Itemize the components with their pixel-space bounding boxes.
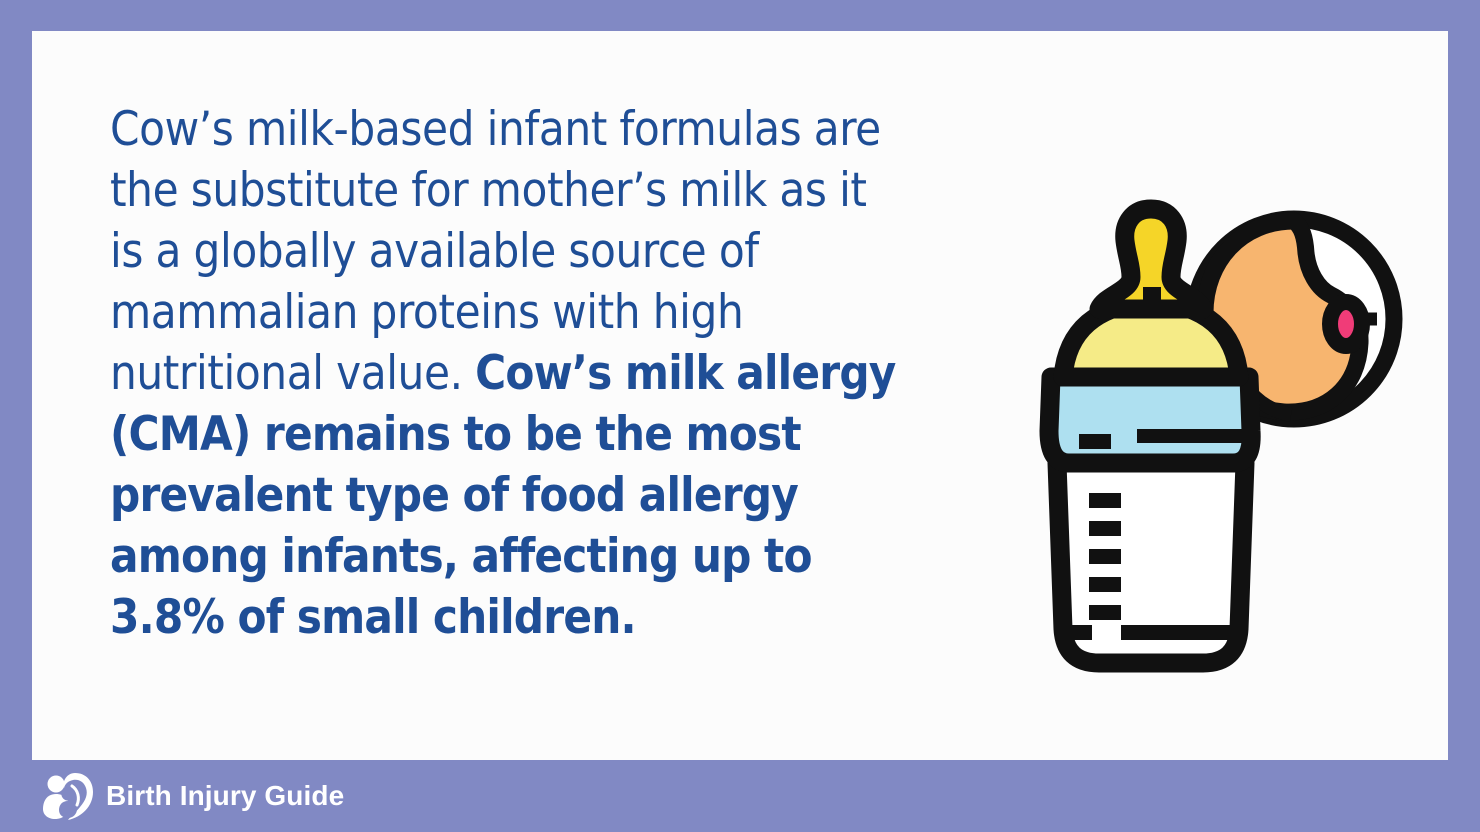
measurement-mark-5 xyxy=(1089,605,1121,620)
birth-injury-guide-logo-icon[interactable] xyxy=(42,770,94,822)
bottle-level-line-right xyxy=(1121,625,1239,640)
measurement-mark-2 xyxy=(1089,521,1121,536)
measurement-mark-3 xyxy=(1089,549,1121,564)
measurement-mark-4 xyxy=(1089,577,1121,592)
measurement-mark-1 xyxy=(1089,493,1121,508)
paragraph: Cow’s milk-based infant formulas are the… xyxy=(110,99,900,648)
breast-nipple xyxy=(1330,302,1362,346)
bottle-neck-band xyxy=(1049,377,1251,463)
content-card: Cow’s milk-based infant formulas are the… xyxy=(32,31,1448,760)
bottle-nipple-notch xyxy=(1143,287,1161,303)
brand-name[interactable]: Birth Injury Guide xyxy=(106,780,344,812)
bottle-neck-mark-short xyxy=(1079,434,1111,449)
baby-bottle-and-breast-illustration xyxy=(1017,191,1437,701)
infographic-canvas: Cow’s milk-based infant formulas are the… xyxy=(0,0,1480,832)
copy-block: Cow’s milk-based infant formulas are the… xyxy=(110,99,900,648)
bottle-level-line-left xyxy=(1064,625,1092,640)
logo-baby-head xyxy=(61,787,74,800)
bottle-neck-mark-long xyxy=(1137,429,1247,443)
logo-mother-head xyxy=(48,776,65,793)
footer-bar: Birth Injury Guide xyxy=(0,760,1480,832)
